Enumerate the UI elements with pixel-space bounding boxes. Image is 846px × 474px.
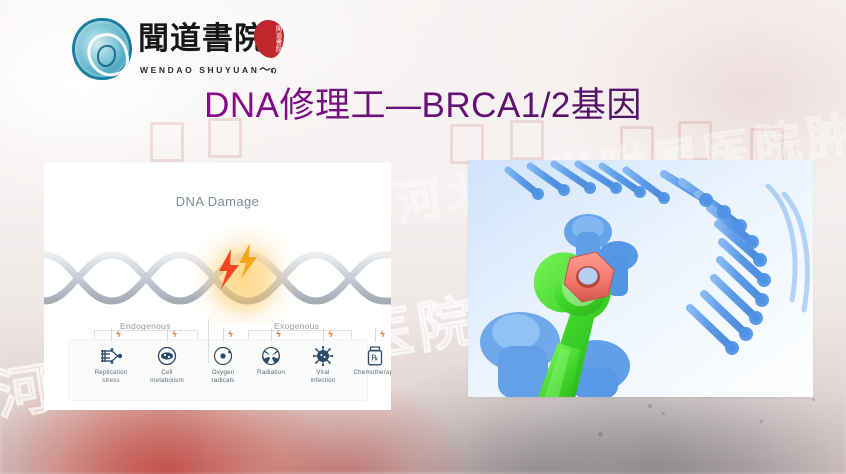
logo: 聞道書院 WENDAO SHUYUAN〜၈ 聞道書院 (72, 14, 282, 82)
cause-label-line1: Oxygen (212, 369, 235, 376)
ink-speck (760, 420, 763, 423)
cause-label: Chemotherapy (344, 369, 391, 377)
ink-speck (812, 398, 815, 401)
spark-icon: ϟ (276, 329, 281, 339)
ink-speck (662, 412, 665, 415)
cause-label-line2: infection (311, 377, 336, 384)
cell-metabolism-icon (136, 345, 198, 367)
spark-icon: ϟ (116, 329, 121, 339)
spark-icon: ϟ (228, 329, 233, 339)
logo-emblem-icon (72, 18, 132, 80)
logo-swirl-icon: 〜၈ (260, 64, 277, 76)
background-seal (150, 122, 184, 162)
cause-cell-metabolism: ϟ Cell metabolism (136, 345, 198, 385)
logo-chinese-name: 聞道書院 (138, 20, 266, 58)
cause-label-line2: radicals (212, 377, 235, 384)
cause-label: Cell metabolism (136, 369, 198, 385)
dna-wrench-illustration (468, 160, 813, 397)
page-title: DNA修理工—BRCA1/2基因 (0, 84, 846, 128)
bracket-exogenous (248, 330, 352, 339)
logo-pinyin: WENDAO SHUYUAN〜၈ (140, 61, 277, 79)
replication-fork-icon (80, 345, 142, 367)
logo-pinyin-text: WENDAO SHUYUAN (140, 65, 260, 75)
stem-line (375, 328, 376, 342)
spark-icon: ϟ (328, 329, 333, 339)
bracket-endogenous (94, 330, 198, 339)
cause-label-line2: metabolism (150, 377, 184, 384)
ink-speck (598, 432, 603, 437)
stem-line (323, 328, 324, 342)
stem-line (223, 328, 224, 342)
dna-damage-diagram: DNA Damage (44, 163, 391, 410)
cause-label-line1: Replication (95, 369, 128, 376)
background-seal (450, 124, 484, 164)
cause-label-line1: Cell (161, 369, 172, 376)
cause-label-line1: Viral (316, 369, 329, 376)
cause-chemotherapy: ϟ ℞ Chemotherapy (344, 345, 391, 377)
stem-line (271, 328, 272, 342)
spark-icon: ϟ (172, 329, 177, 339)
slide-canvas: 河北大学附属医院肿瘤内科 河北大学附属医院肿瘤内科 聞道書院 WENDAO SH… (0, 0, 846, 474)
ink-speck (648, 404, 652, 408)
spark-icon: ϟ (380, 329, 385, 339)
cause-label-line1: Chemotherapy (353, 369, 391, 376)
cause-label-line1: Radiation (257, 369, 285, 376)
svg-text:℞: ℞ (371, 353, 378, 362)
diagram-title: DNA Damage (44, 194, 391, 209)
cause-replication-stress: ϟ Replication (80, 345, 142, 385)
cause-label-line2: stress (102, 377, 120, 384)
stem-line (167, 328, 168, 342)
stem-line (111, 328, 112, 342)
pill-bottle-icon: ℞ (344, 345, 391, 367)
cause-label: Replication stress (80, 369, 142, 385)
damage-causes: Endogenous Exogenous ϟ (58, 321, 377, 401)
